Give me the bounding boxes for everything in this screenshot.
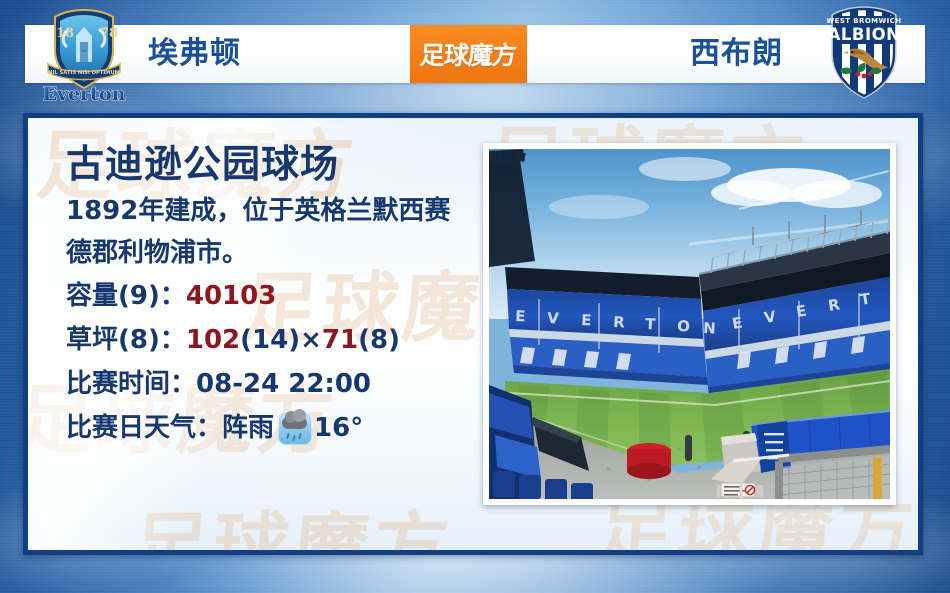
stadium-description-line-2: 德郡利物浦市。 [66,232,466,274]
app-background: NIL SATIS NISI OPTIMUM 18 78 Everton 埃弗顿… [0,0,950,593]
weather-label: 比赛日天气 [66,406,196,450]
capacity-value: 40103 [186,274,276,318]
match-time-value: 08-24 22:00 [196,362,371,406]
everton-crest: NIL SATIS NISI OPTIMUM 18 78 Everton [32,4,136,106]
shower-rain-icon [278,411,312,445]
match-time-row: 比赛时间 ： 08-24 22:00 [66,362,466,406]
away-team-name: 西布朗 [690,25,783,83]
goodison-park-photo-frame: E V E R T O N E V E R T [483,143,896,505]
weather-temperature: 16° [314,406,363,450]
capacity-label: 容量(9) [66,274,160,318]
home-team-name: 埃弗顿 [148,25,241,83]
stadium-info-panel: 足球魔方 足球魔方 足球魔方 足球魔方 足球魔方 足球魔方 古迪逊公园球场 18… [23,113,923,555]
weather-condition: 阵雨 [222,406,274,450]
weather-separator: ： [196,406,222,450]
everton-motto: NIL SATIS NISI OPTIMUM [48,70,120,76]
everton-year-left: 18 [56,26,74,41]
everton-year-right: 78 [100,26,118,41]
pitch-length: 102 [186,318,240,362]
rain-drop [292,435,296,441]
svg-text:V: V [547,309,560,328]
stadium-description-line-1: 1892年建成，位于英格兰默西赛 [66,190,466,232]
goodison-park-photo: E V E R T O N E V E R T [489,149,890,499]
cloud-shape [282,417,307,429]
wba-wordmark: ALBION [828,25,901,44]
rain-drop [286,433,290,439]
brand-logo-badge[interactable]: 足球魔方 [410,25,527,83]
pitch-separator: ： [160,318,186,362]
match-time-separator: ： [170,362,196,406]
match-time-label: 比赛时间 [66,362,170,406]
brand-logo-text: 足球魔方 [419,36,518,72]
capacity-separator: ： [160,274,186,318]
pitch-row: 草坪(8) ： 102 (14) × 71 (8) [66,318,466,362]
svg-text:O: O [677,317,691,336]
svg-text:E: E [515,307,526,325]
wba-arc-text: WEST BROMWICH [827,17,902,25]
stadium-details: 古迪逊公园球场 1892年建成，位于英格兰默西赛 德郡利物浦市。 容量(9) ：… [66,138,466,450]
rain-drop [298,433,302,439]
capacity-row: 容量(9) ： 40103 [66,274,466,318]
weather-row: 比赛日天气 ： 阵雨 16° [66,406,466,450]
svg-text:T: T [645,315,657,333]
pitch-width: 71 [322,318,358,362]
stadium-title: 古迪逊公园球场 [66,138,466,190]
everton-wordmark: Everton [43,83,126,105]
pitch-width-rank: (8) [358,318,400,362]
west-bromwich-albion-crest: WEST BROMWICH ALBION [812,4,916,106]
svg-text:E: E [581,311,592,329]
svg-text:R: R [613,313,626,332]
pitch-length-rank: (14) [240,318,300,362]
pitch-times-symbol: × [300,318,322,362]
svg-text:N: N [703,319,716,338]
pitch-label: 草坪(8) [66,318,160,362]
watermark: 足球魔方 [128,486,458,555]
